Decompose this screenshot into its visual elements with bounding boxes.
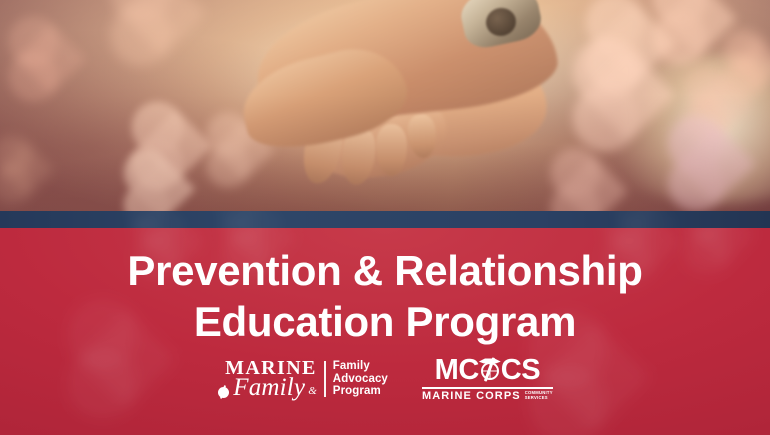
fap-line-1: Family [333, 360, 388, 373]
family-advocacy-program-text: Family Advocacy Program [333, 360, 388, 398]
photo-vignette [0, 0, 770, 211]
eagle-globe-anchor-icon [217, 386, 230, 399]
headline-line-2: Education Program [0, 296, 770, 347]
marine-and-family-logo: MARINE Family & Family Advocacy Program [217, 358, 388, 400]
logo-lockup-row: MARINE Family & Family Advocacy Program [0, 356, 770, 402]
fap-line-2: Advocacy [333, 373, 388, 386]
bokeh-heart [619, 211, 678, 228]
mccs-community-services-text: COMMUNITY SERVICES [525, 391, 553, 402]
bokeh-heart [132, 211, 189, 228]
eagle-globe-anchor-icon [477, 357, 503, 383]
mccs-cs-line-2: SERVICES [525, 396, 553, 401]
navy-divider-band [0, 211, 770, 228]
marine-family-wordmark: MARINE Family & [217, 358, 317, 400]
bokeh-heart [223, 211, 285, 228]
mccs-letters-right: CS [501, 356, 540, 385]
prep-program-banner: Prevention & Relationship Education Prog… [0, 0, 770, 435]
navy-band-texture [0, 211, 770, 228]
headline-line-1: Prevention & Relationship [127, 247, 642, 294]
logo-divider-rule [324, 361, 326, 397]
ampersand-glyph: & [308, 386, 317, 400]
mccs-tagline-row: MARINE CORPS COMMUNITY SERVICES [422, 391, 553, 402]
mccs-divider-rule [422, 387, 553, 389]
mccs-tagline-text: MARINE CORPS [422, 391, 521, 402]
family-wordmark-row: Family & [217, 376, 317, 400]
mccs-wordmark: MC CS [435, 356, 540, 385]
fap-line-3: Program [333, 385, 388, 398]
mccs-letters-left: MC [435, 356, 479, 385]
hero-photo [0, 0, 770, 211]
red-title-panel: Prevention & Relationship Education Prog… [0, 228, 770, 435]
family-wordmark-text: Family [233, 376, 305, 400]
mccs-logo: MC CS MARINE CORPS COMMUNITY SERVICES [422, 356, 553, 402]
page-title: Prevention & Relationship Education Prog… [0, 228, 770, 347]
